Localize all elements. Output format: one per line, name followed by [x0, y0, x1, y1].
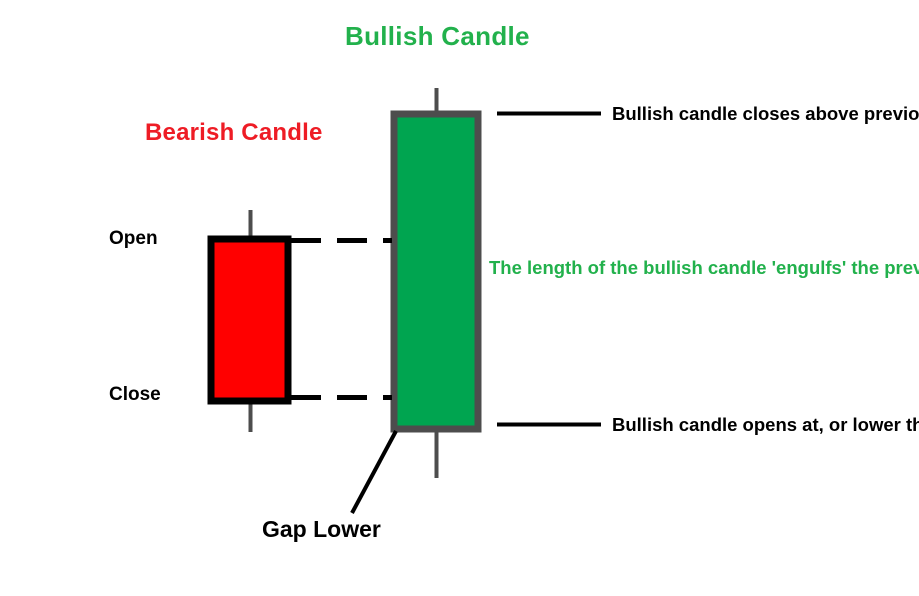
callout-opens-at-or-below-previous-close: Bullish candle opens at, or lower than t… [612, 412, 832, 438]
bearish-candle-body [211, 239, 288, 401]
diagram-canvas: Bullish Candle Bearish Candle Open Close… [0, 0, 919, 596]
callout-engulfs-previous-candle: The length of the bullish candle 'engulf… [489, 255, 779, 281]
bullish-candle-body [394, 114, 478, 429]
close-price-label: Close [109, 383, 161, 408]
bearish-candle [211, 210, 288, 432]
callout-closes-above-previous-open: Bullish candle closes above previous can… [612, 101, 827, 127]
open-price-label: Open [109, 227, 158, 252]
bullish-candle-title: Bullish Candle [345, 20, 530, 54]
bearish-candle-title: Bearish Candle [145, 117, 323, 148]
gap-lower-leader-line [352, 431, 396, 513]
bullish-candle [394, 88, 478, 478]
gap-lower-label: Gap Lower [262, 515, 381, 545]
candlestick-graphics-layer [0, 0, 919, 596]
